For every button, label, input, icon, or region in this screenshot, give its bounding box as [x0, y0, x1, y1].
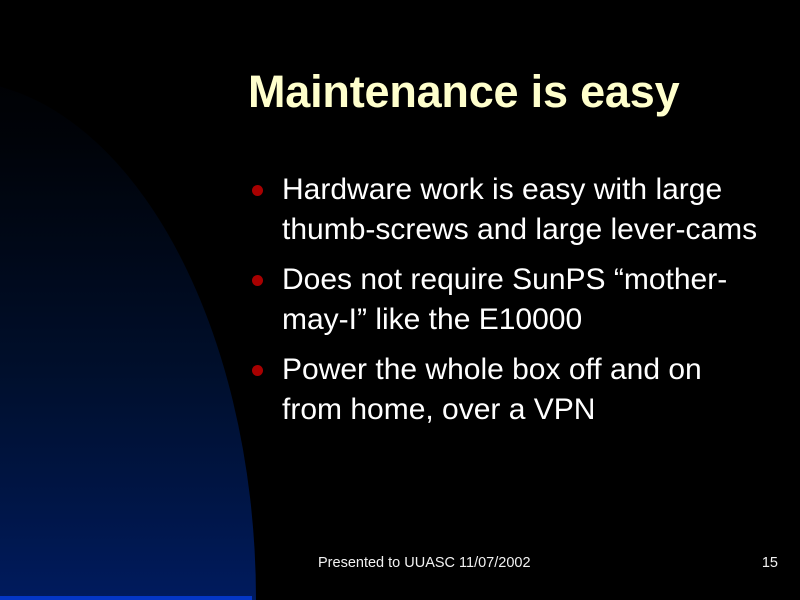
list-item: Hardware work is easy with large thumb-s…: [248, 170, 758, 250]
presentation-slide: Maintenance is easy Hardware work is eas…: [0, 0, 800, 600]
decorative-blue-ellipse: [0, 80, 256, 600]
decorative-blue-ellipse-base: [0, 596, 252, 600]
slide-number: 15: [762, 554, 778, 572]
bullet-list: Hardware work is easy with large thumb-s…: [248, 170, 758, 440]
bullet-dot-icon: [252, 275, 263, 286]
slide-title: Maintenance is easy: [248, 66, 768, 118]
slide-footer: Presented to UUASC 11/07/2002 15: [318, 554, 778, 572]
footer-presented-to: Presented to UUASC 11/07/2002: [318, 554, 531, 572]
bullet-dot-icon: [252, 365, 263, 376]
list-item: Power the whole box off and on from home…: [248, 350, 758, 430]
bullet-dot-icon: [252, 185, 263, 196]
list-item: Does not require SunPS “mother-may-I” li…: [248, 260, 758, 340]
bullet-text: Power the whole box off and on from home…: [282, 350, 758, 430]
bullet-text: Hardware work is easy with large thumb-s…: [282, 170, 758, 250]
bullet-text: Does not require SunPS “mother-may-I” li…: [282, 260, 758, 340]
